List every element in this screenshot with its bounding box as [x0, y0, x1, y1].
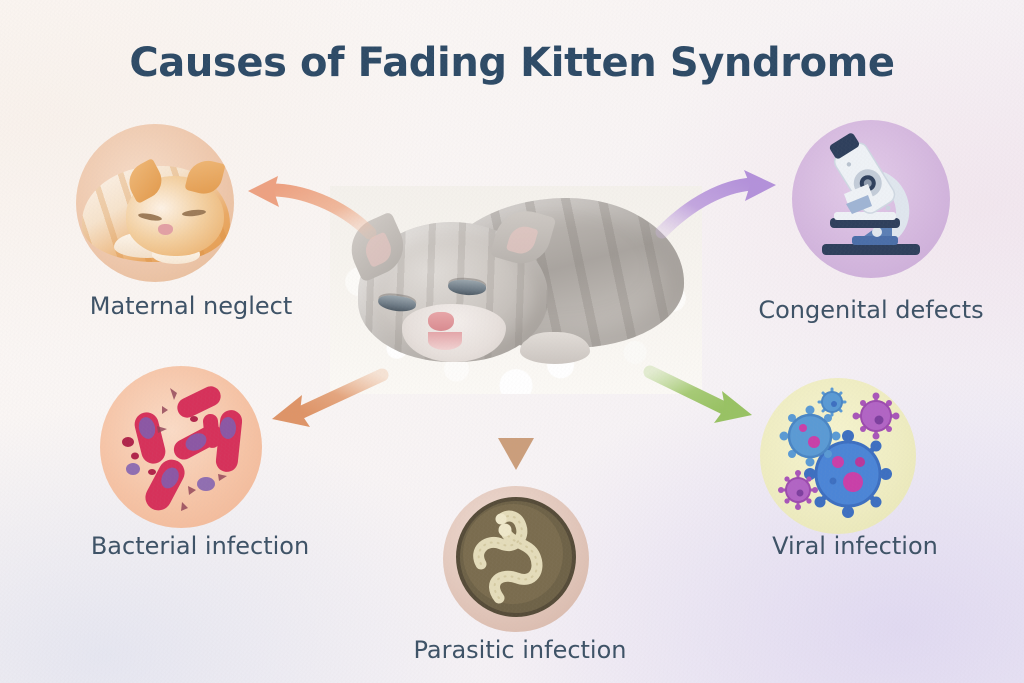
virus-particles-icon	[760, 378, 916, 534]
parasite-worms-icon	[443, 486, 589, 632]
arrow-to-parasitic-infection	[498, 400, 534, 470]
microscope-icon	[792, 120, 950, 278]
cause-label-parasitic-infection: Parasitic infection	[355, 636, 685, 664]
cause-node-viral-infection	[760, 378, 916, 534]
page-title: Causes of Fading Kitten Syndrome	[0, 40, 1024, 86]
rod-bacteria-icon	[100, 366, 262, 528]
center-kitten-photo	[330, 186, 702, 394]
cause-node-maternal-neglect	[76, 124, 234, 282]
virus-tiny-top	[819, 389, 845, 415]
infographic-canvas: Causes of Fading Kitten Syndrome	[0, 0, 1024, 683]
cause-label-viral-infection: Viral infection	[690, 532, 1020, 560]
cause-label-congenital-defects: Congenital defects	[706, 296, 1024, 324]
cause-label-bacterial-infection: Bacterial infection	[35, 532, 365, 560]
cause-node-parasitic-infection	[443, 486, 589, 632]
cause-node-congenital-defects	[792, 120, 950, 278]
virus-small-right	[853, 393, 900, 440]
gray-tabby-kitten-illustration	[344, 196, 688, 372]
sleeping-ginger-kitten-icon	[76, 124, 234, 282]
cause-label-maternal-neglect: Maternal neglect	[26, 292, 356, 320]
cause-node-bacterial-infection	[100, 366, 262, 528]
